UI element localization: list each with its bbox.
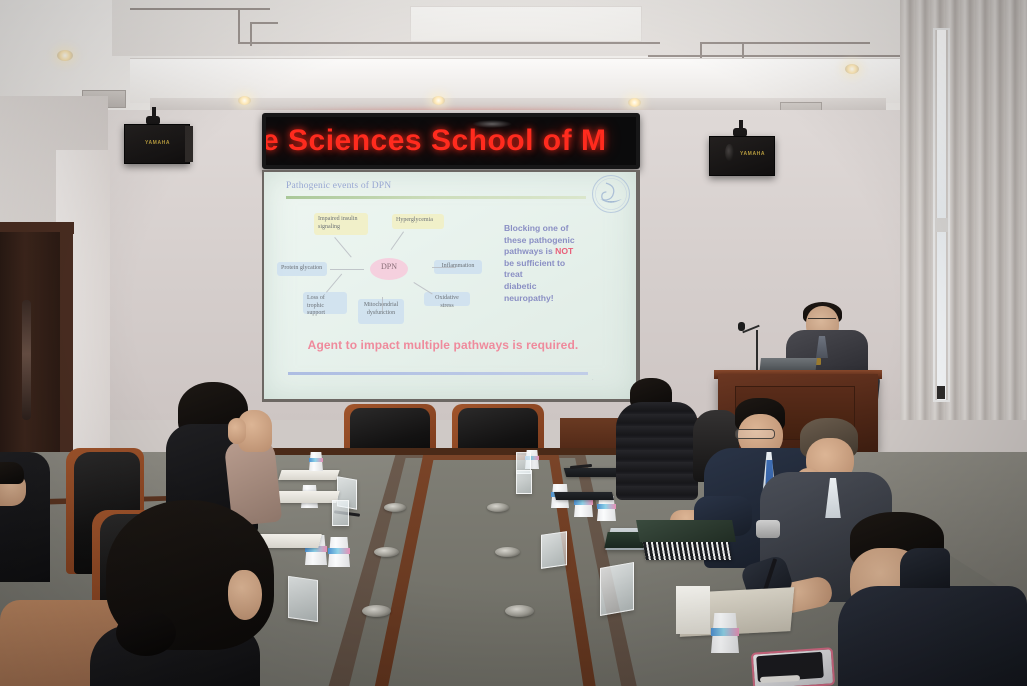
name-plate[interactable] (600, 562, 634, 616)
microphone-stand (756, 330, 758, 374)
ceiling-trim-line (238, 8, 240, 44)
table-cable-grommet (495, 547, 520, 557)
slide-title-rule (286, 196, 586, 199)
attendee-2-ear-cheek (228, 570, 262, 620)
callout-line: be sufficient to (504, 258, 596, 270)
diagram-arrow (330, 269, 364, 270)
cup-band (574, 500, 593, 505)
glasses-icon (808, 318, 836, 324)
name-plate[interactable] (516, 470, 532, 494)
slide-title: Pathogenic events of DPN (286, 181, 391, 191)
diagram-arrow (382, 297, 383, 311)
callout-line-with-emphasis: pathways is NOT (504, 246, 596, 258)
diagram-node-impaired-insulin-signaling: Impaired insulin signaling (314, 213, 368, 235)
downlight-icon (432, 96, 445, 105)
ceiling-trim-line (250, 22, 278, 24)
wristwatch (756, 520, 780, 538)
led-sign-glare (472, 120, 512, 128)
slide-bottom-rule (288, 372, 588, 375)
callout-line: neuropathy! (504, 293, 596, 305)
attendee-1-cheek (228, 418, 246, 444)
svg-text:●●●●: ●●●● (607, 199, 614, 203)
ceiling-trim-line (700, 42, 870, 44)
name-plate[interactable] (541, 531, 567, 569)
slide-page-mark: · (592, 377, 594, 383)
cup-band (309, 458, 323, 462)
downlight-icon (238, 96, 251, 105)
diagram-node-dpn-center: DPN (370, 258, 408, 280)
window-frame (933, 28, 950, 402)
table-cable-grommet (362, 605, 391, 617)
cup-band (328, 548, 350, 554)
glasses-icon (735, 429, 775, 439)
attendee-3-hair (0, 462, 24, 484)
led-scrolling-sign: e Sciences School of M (262, 113, 640, 169)
cup-band (711, 628, 739, 636)
table-cable-grommet (374, 547, 399, 557)
document-folder[interactable] (554, 492, 614, 500)
wall-speaker-left-side (185, 126, 193, 162)
window-latch[interactable] (937, 386, 945, 399)
table-cable-grommet (505, 605, 534, 617)
notebook-left-page (676, 586, 710, 634)
speaker-brand-label: YAMAHA (145, 140, 170, 146)
callout-line: Blocking one of (504, 223, 596, 235)
window-curtain[interactable] (900, 0, 1027, 420)
callout-line: pathways is (504, 246, 555, 256)
name-plate[interactable] (332, 500, 349, 526)
closed-document[interactable] (636, 520, 736, 542)
slide-callout-text: Blocking one of these pathogenic pathway… (504, 223, 596, 304)
conference-room-photo: YAMAHA YAMAHA e Sciences School of M Pat… (0, 0, 1027, 686)
speaker-brand-label: YAMAHA (740, 151, 765, 157)
downlight-icon (57, 50, 73, 61)
attendee-2-hair-tie (116, 610, 176, 656)
diagram-node-protein-glycation: Protein glycation (277, 262, 327, 276)
attendee-7-shoulder (900, 548, 950, 588)
door-glass-strip (22, 300, 31, 420)
ceiling-trim-line (130, 8, 270, 10)
notepad[interactable] (278, 470, 339, 480)
notepad[interactable] (274, 491, 339, 503)
diagram-arrow (432, 267, 456, 268)
institution-seal-icon: ●●●● (590, 173, 632, 215)
diagram-node-hyperglycemia: Hyperglycemia (392, 214, 444, 229)
led-sign-text: e Sciences School of M (266, 124, 606, 158)
slide-conclusion-text: Agent to impact multiple pathways is req… (288, 338, 598, 352)
ceiling-trim-line (250, 22, 252, 46)
window-latch[interactable] (935, 218, 948, 232)
table-cable-grommet (487, 503, 509, 512)
speaker-cone-icon (725, 144, 734, 161)
diagram-node-mitochondrial-dysfunction: Mitochondrial dysfunction (358, 299, 404, 324)
callout-emphasis-not: NOT (555, 246, 573, 256)
diagram-node-loss-of-trophic-support: Loss of trophic support (303, 292, 347, 314)
attendee-7-jacket (838, 586, 1027, 686)
downlight-icon (628, 98, 641, 107)
callout-line: treat (504, 269, 596, 281)
table-cable-grommet (384, 503, 406, 512)
cup-band (597, 504, 616, 509)
name-plate[interactable] (288, 576, 318, 622)
downlight-icon (845, 64, 859, 74)
callout-line: diabetic (504, 281, 596, 293)
document-folder[interactable] (564, 468, 622, 477)
attendee-4-puffer-jacket (616, 402, 698, 500)
ceiling-panel (410, 6, 642, 42)
ceiling-trim-line (330, 42, 660, 44)
callout-line: these pathogenic (504, 235, 596, 247)
